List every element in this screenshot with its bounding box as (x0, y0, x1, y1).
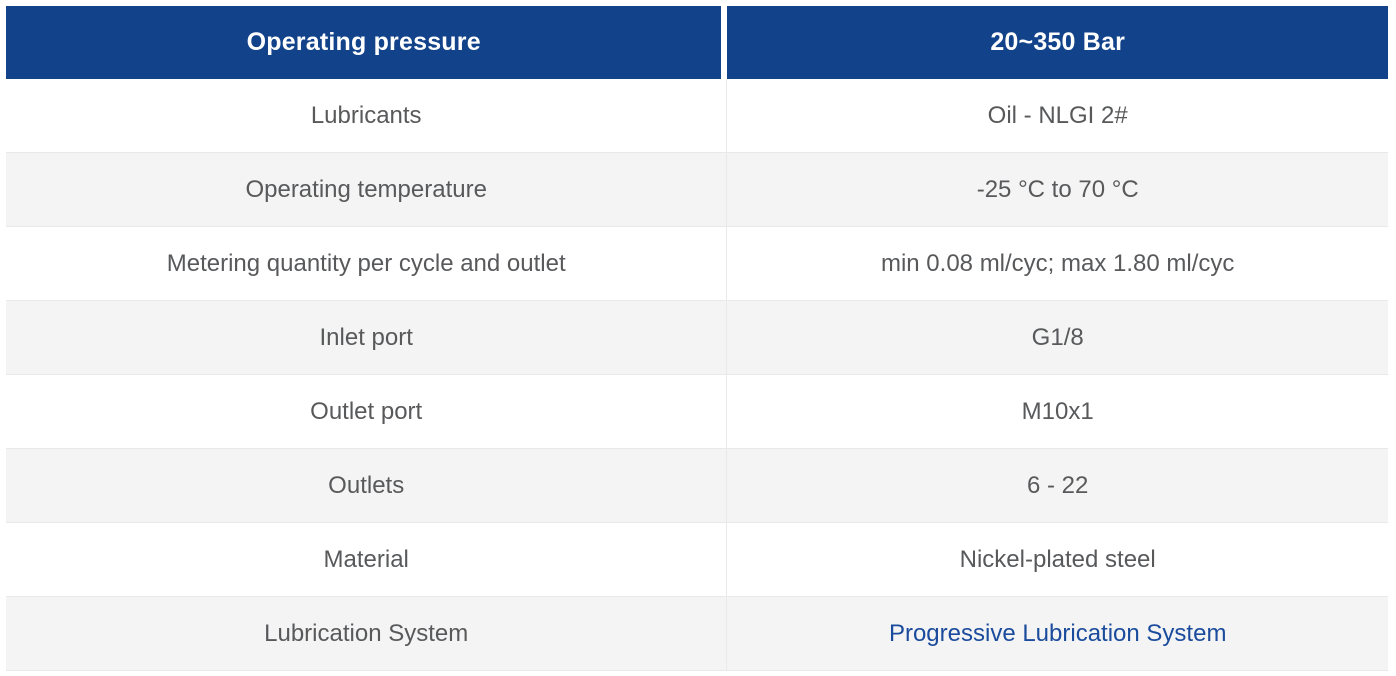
table-row: Lubrication SystemProgressive Lubricatio… (6, 597, 1388, 671)
row-value-cell: Progressive Lubrication System (727, 597, 1388, 671)
row-value-cell: min 0.08 ml/cyc; max 1.80 ml/cyc (727, 227, 1388, 301)
specification-table-container: Operating pressure 20~350 Bar Lubricants… (0, 0, 1396, 676)
table-row: MaterialNickel-plated steel (6, 523, 1388, 597)
table-row: Outlets6 - 22 (6, 449, 1388, 523)
table-row: Metering quantity per cycle and outletmi… (6, 227, 1388, 301)
row-label-cell: Material (6, 523, 727, 597)
table-header-row: Operating pressure 20~350 Bar (6, 6, 1388, 79)
row-value-cell: G1/8 (727, 301, 1388, 375)
row-value-cell: Oil - NLGI 2# (727, 79, 1388, 153)
row-label-cell: Inlet port (6, 301, 727, 375)
specification-table: Operating pressure 20~350 Bar Lubricants… (6, 6, 1388, 671)
row-value-cell: Nickel-plated steel (727, 523, 1388, 597)
row-label-cell: Lubricants (6, 79, 727, 153)
row-label-cell: Outlet port (6, 375, 727, 449)
row-label-cell: Operating temperature (6, 153, 727, 227)
table-header: Operating pressure 20~350 Bar (6, 6, 1388, 79)
row-value-cell: -25 °C to 70 °C (727, 153, 1388, 227)
row-value-cell: M10x1 (727, 375, 1388, 449)
header-cell-label: Operating pressure (6, 6, 727, 79)
table-row: Outlet portM10x1 (6, 375, 1388, 449)
table-row: Operating temperature-25 °C to 70 °C (6, 153, 1388, 227)
row-label-cell: Metering quantity per cycle and outlet (6, 227, 727, 301)
table-row: LubricantsOil - NLGI 2# (6, 79, 1388, 153)
row-label-cell: Lubrication System (6, 597, 727, 671)
table-body: LubricantsOil - NLGI 2#Operating tempera… (6, 79, 1388, 671)
row-label-cell: Outlets (6, 449, 727, 523)
lubrication-system-link[interactable]: Progressive Lubrication System (889, 620, 1226, 647)
header-cell-value: 20~350 Bar (727, 6, 1388, 79)
table-row: Inlet portG1/8 (6, 301, 1388, 375)
row-value-cell: 6 - 22 (727, 449, 1388, 523)
